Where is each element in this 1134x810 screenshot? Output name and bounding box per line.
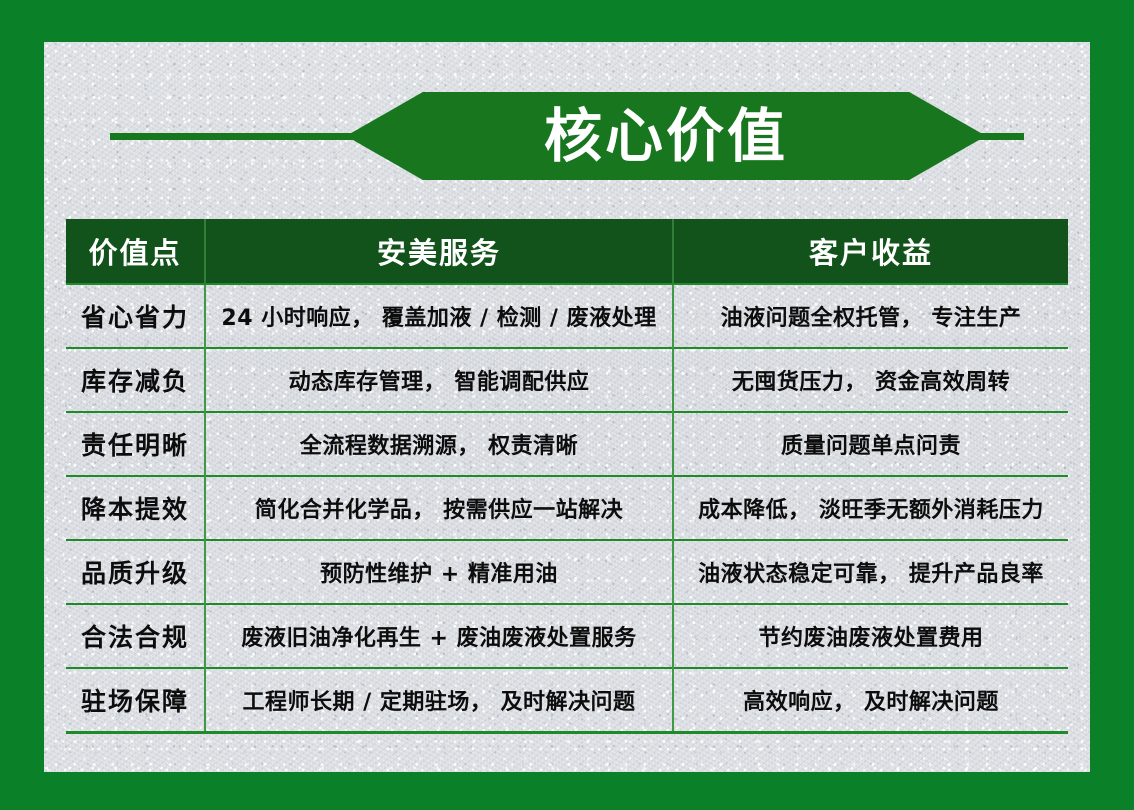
cell-value-point: 驻场保障 xyxy=(66,668,205,733)
value-table-container: 价值点 安美服务 客户收益 省心省力 24 小时响应， 覆盖加液 / 检测 / … xyxy=(66,219,1068,719)
cell-service: 预防性维护 + 精准用油 xyxy=(205,540,673,604)
cell-benefit: 油液问题全权托管， 专注生产 xyxy=(673,284,1068,348)
column-header-value-point: 价值点 xyxy=(66,219,205,284)
table-row: 驻场保障 工程师长期 / 定期驻场， 及时解决问题 高效响应， 及时解决问题 xyxy=(66,668,1068,733)
table-header: 价值点 安美服务 客户收益 xyxy=(66,219,1068,284)
table-row: 降本提效 简化合并化学品， 按需供应一站解决 成本降低， 淡旺季无额外消耗压力 xyxy=(66,476,1068,540)
page-title: 核心价值 xyxy=(544,107,788,165)
table-row: 责任明晰 全流程数据溯源， 权责清晰 质量问题单点问责 xyxy=(66,412,1068,476)
cell-service: 全流程数据溯源， 权责清晰 xyxy=(205,412,673,476)
cell-service: 工程师长期 / 定期驻场， 及时解决问题 xyxy=(205,668,673,733)
cell-benefit: 成本降低， 淡旺季无额外消耗压力 xyxy=(673,476,1068,540)
cell-value-point: 合法合规 xyxy=(66,604,205,668)
title-banner: 核心价值 xyxy=(44,92,1090,180)
cell-value-point: 降本提效 xyxy=(66,476,205,540)
cell-service: 动态库存管理， 智能调配供应 xyxy=(205,348,673,412)
cell-value-point: 品质升级 xyxy=(66,540,205,604)
table-row: 省心省力 24 小时响应， 覆盖加液 / 检测 / 废液处理 油液问题全权托管，… xyxy=(66,284,1068,348)
table-header-row: 价值点 安美服务 客户收益 xyxy=(66,219,1068,284)
table-row: 库存减负 动态库存管理， 智能调配供应 无囤货压力， 资金高效周转 xyxy=(66,348,1068,412)
cell-benefit: 高效响应， 及时解决问题 xyxy=(673,668,1068,733)
value-table: 价值点 安美服务 客户收益 省心省力 24 小时响应， 覆盖加液 / 检测 / … xyxy=(66,219,1068,734)
cell-value-point: 省心省力 xyxy=(66,284,205,348)
cell-service: 24 小时响应， 覆盖加液 / 检测 / 废液处理 xyxy=(205,284,673,348)
cell-value-point: 责任明晰 xyxy=(66,412,205,476)
cell-service: 简化合并化学品， 按需供应一站解决 xyxy=(205,476,673,540)
table-row: 合法合规 废液旧油净化再生 + 废油废液处置服务 节约废油废液处置费用 xyxy=(66,604,1068,668)
cell-benefit: 节约废油废液处置费用 xyxy=(673,604,1068,668)
table-row: 品质升级 预防性维护 + 精准用油 油液状态稳定可靠， 提升产品良率 xyxy=(66,540,1068,604)
cell-benefit: 质量问题单点问责 xyxy=(673,412,1068,476)
banner-hexagon: 核心价值 xyxy=(346,92,986,180)
column-header-anmei-service: 安美服务 xyxy=(205,219,673,284)
poster-canvas: 核心价值 价值点 安美服务 客户收益 省心省力 24 小时响应， 覆盖加液 / … xyxy=(0,0,1134,810)
cell-service: 废液旧油净化再生 + 废油废液处置服务 xyxy=(205,604,673,668)
cell-benefit: 无囤货压力， 资金高效周转 xyxy=(673,348,1068,412)
cell-value-point: 库存减负 xyxy=(66,348,205,412)
table-body: 省心省力 24 小时响应， 覆盖加液 / 检测 / 废液处理 油液问题全权托管，… xyxy=(66,284,1068,733)
cell-benefit: 油液状态稳定可靠， 提升产品良率 xyxy=(673,540,1068,604)
column-header-customer-benefit: 客户收益 xyxy=(673,219,1068,284)
